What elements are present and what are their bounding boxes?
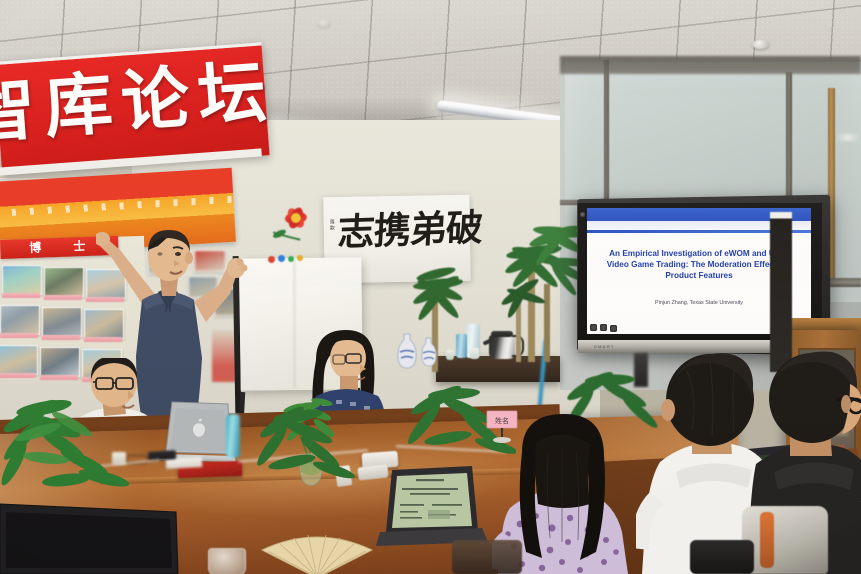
phd-portrait-caption: [2, 293, 40, 298]
display-brand-label: SMART: [594, 344, 615, 349]
smoke-detector-icon: [752, 40, 769, 49]
seminar-room-photo: 智库论坛 博 士: [0, 0, 861, 574]
backpack: [742, 506, 828, 574]
display-button[interactable]: [600, 324, 607, 331]
partition-glass-reflection: [836, 134, 860, 141]
phd-portrait: [44, 267, 84, 297]
green-bottle[interactable]: [226, 414, 240, 458]
phd-portrait-caption: [0, 373, 36, 378]
phd-portrait: [0, 305, 40, 335]
laptop-foreground-dark[interactable]: [0, 498, 196, 574]
slide-title: An Empirical Investigation of eWOM and U…: [599, 248, 799, 281]
phd-portrait: [42, 307, 82, 337]
banner-text: 智库论坛: [0, 59, 277, 149]
display-button[interactable]: [610, 325, 617, 332]
magnet-icon[interactable]: [278, 255, 285, 262]
glass-tumbler[interactable]: [208, 548, 246, 574]
foreground-plant-cluster: [0, 388, 150, 498]
magnet-icon[interactable]: [288, 256, 294, 262]
magnet-icon[interactable]: [268, 256, 275, 263]
foreground-plant-center: [246, 400, 356, 496]
folding-hand-fan[interactable]: [258, 530, 376, 574]
board-dot-pattern: [0, 196, 234, 217]
slide-author: Pinjun Zhang, Texas State University: [599, 300, 799, 306]
flipchart-sheet-crease: [294, 260, 295, 388]
backpack-strap: [760, 512, 774, 568]
chair-back-left: [452, 540, 522, 574]
chair-back-dark: [690, 540, 754, 574]
calligraphy-signature: 落款: [329, 219, 336, 231]
partition-mullion: [604, 60, 609, 210]
phd-portrait: [2, 265, 42, 295]
phd-portrait-caption: [42, 335, 80, 340]
phd-portrait: [0, 345, 38, 375]
ceiling-vent: [318, 20, 330, 27]
partition-upper-dark-band: [560, 56, 861, 74]
display-power-indicator[interactable]: [580, 212, 585, 217]
flower-ornament-icon: [266, 193, 327, 245]
magnet-icon[interactable]: [297, 255, 303, 261]
phd-portrait-caption: [44, 295, 82, 300]
phd-portrait-caption: [0, 333, 38, 338]
porcelain-vase: [420, 336, 438, 368]
porcelain-vase: [396, 332, 418, 370]
display-button[interactable]: [590, 324, 597, 331]
